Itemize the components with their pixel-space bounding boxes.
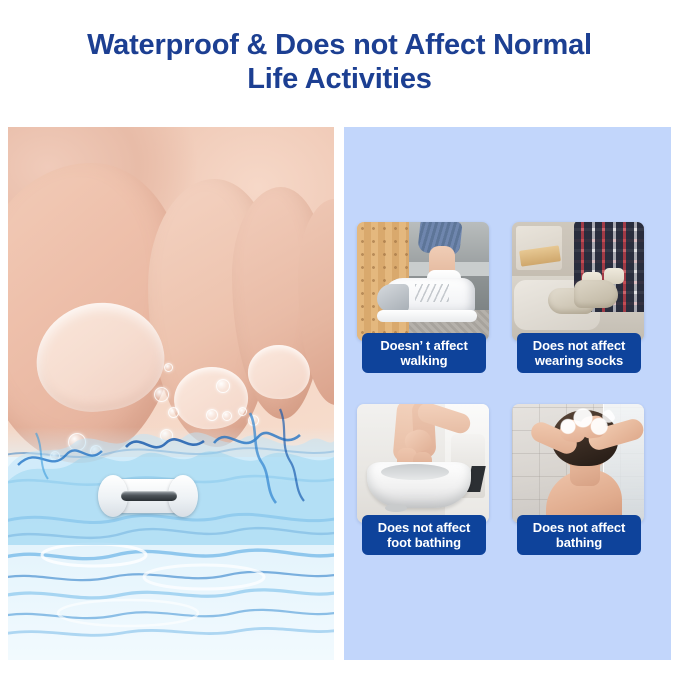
bathing-scene (512, 404, 644, 523)
basin-water (381, 464, 449, 480)
sneaker-sole (377, 310, 477, 322)
basin-foot-pad (385, 504, 407, 512)
toenail-laser-device (104, 479, 192, 513)
page-title-line-1: Waterproof & Does not Affect Normal (0, 28, 679, 62)
card-label-bathing: Does not affect bathing (517, 515, 641, 555)
waterproof-toe-device-photo (8, 127, 334, 660)
sneaker-silver-toe-cap (377, 284, 409, 312)
activity-cards-panel: Doesn’ t affect walking (344, 127, 671, 660)
wearing-socks-scene (512, 222, 644, 341)
feet-in-knit-socks-on-couch-photo (512, 222, 644, 341)
page-title-line-2: Life Activities (0, 62, 679, 96)
card-label-line-2: bathing (520, 535, 638, 550)
foot-bathing-scene (357, 404, 489, 523)
sneaker-laces (415, 284, 449, 302)
water-droplet (216, 379, 230, 393)
card-label-line-1: Does not affect (520, 338, 638, 353)
page-title: Waterproof & Does not Affect Normal Life… (0, 28, 679, 96)
hero-image-panel (8, 127, 334, 660)
walking-scene (357, 222, 489, 341)
card-label-line-1: Doesn’ t affect (365, 338, 483, 353)
knit-sock-right (574, 280, 618, 308)
card-label-walking: Doesn’ t affect walking (362, 333, 486, 373)
feet-in-foot-spa-basin-photo (357, 404, 489, 523)
water-droplet (164, 363, 173, 372)
activity-cards-grid: Doesn’ t affect walking (344, 127, 671, 660)
water-splash-graphic (8, 395, 334, 545)
card-label-line-1: Does not affect (520, 520, 638, 535)
card-label-line-2: walking (365, 353, 483, 368)
card-label-foot-bathing: Does not affect foot bathing (362, 515, 486, 555)
card-label-line-1: Does not affect (365, 520, 483, 535)
white-sneaker-on-steps-photo (357, 222, 489, 341)
card-label-line-2: foot bathing (365, 535, 483, 550)
card-label-line-2: wearing socks (520, 353, 638, 368)
shampoo-foam (556, 406, 616, 440)
device-metal-bar (121, 491, 177, 501)
card-label-wearing-socks: Does not affect wearing socks (517, 333, 641, 373)
woman-washing-hair-in-shower-photo (512, 404, 644, 523)
